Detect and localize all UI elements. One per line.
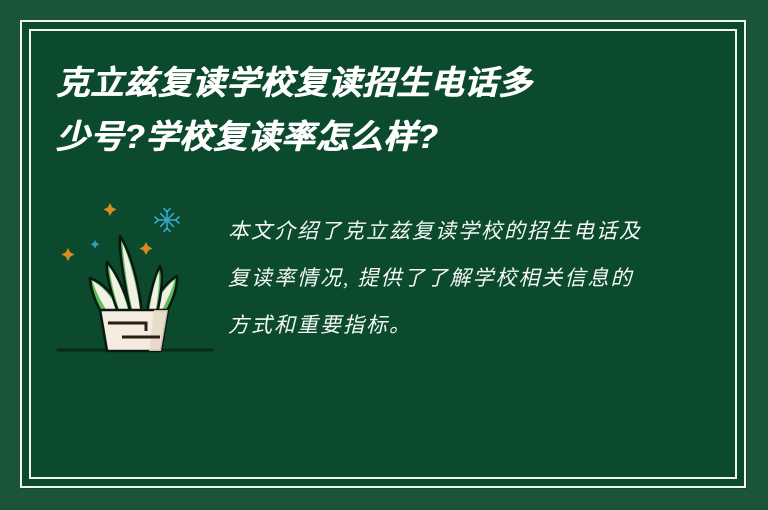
page-title-line-2: 少号?学校复读率怎么样? [56,110,676,164]
page-title-line-1: 克立兹复读学校复读招生电话多 [56,56,676,110]
page-title: 克立兹复读学校复读招生电话多 少号?学校复读率怎么样? [56,56,676,164]
orange-star-top-icon [104,203,117,216]
orange-star-left-icon [62,248,75,261]
plant-pot [100,310,168,351]
potted-plant-illustration [50,190,220,370]
body-paragraph: 本文介绍了克立兹复读学校的招生电话及复读率情况, 提供了了解学校相关信息的方式和… [228,208,648,349]
orange-star-right-icon [140,242,153,255]
blue-dot-icon [91,240,100,249]
poster-canvas: 克立兹复读学校复读招生电话多 少号?学校复读率怎么样? 本文介绍了克立兹复读学校… [0,0,768,510]
blue-snowflake-icon [155,209,179,232]
